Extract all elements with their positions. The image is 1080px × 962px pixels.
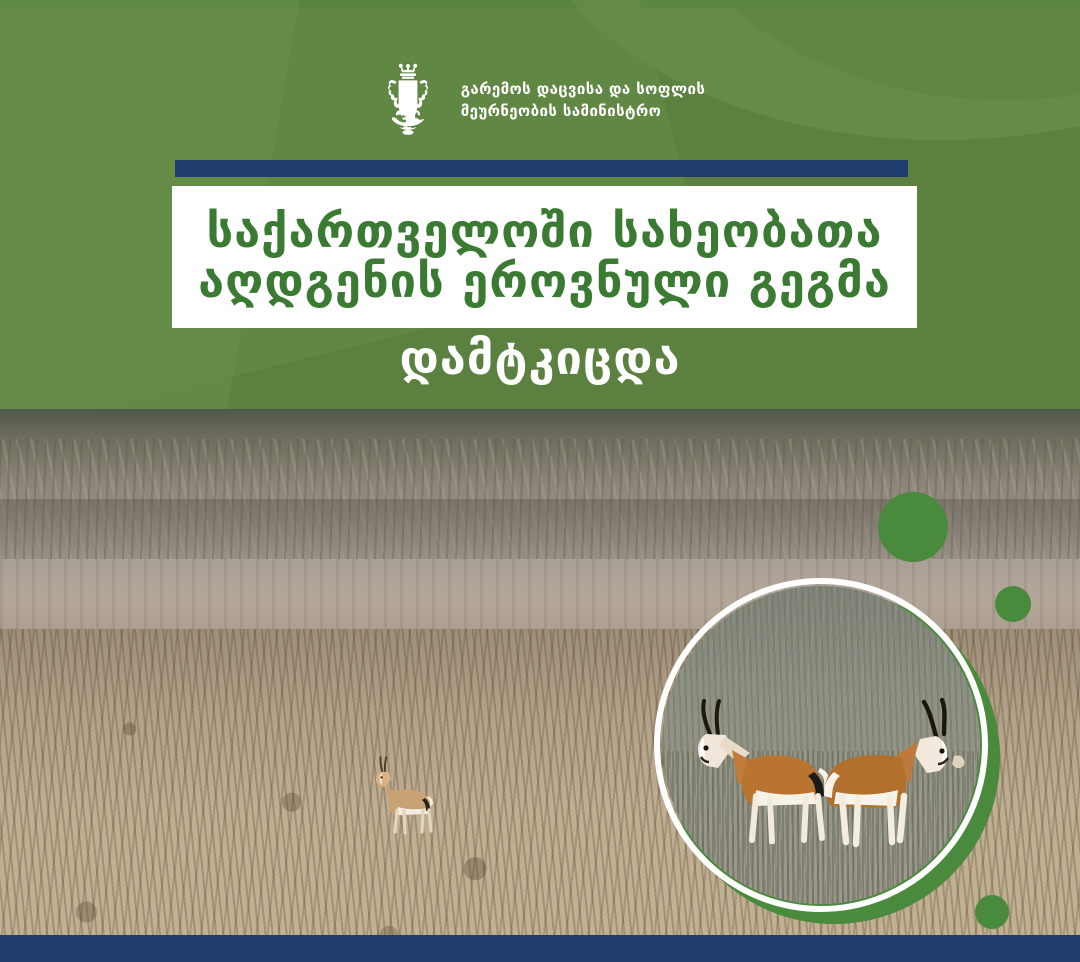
green-circle-large — [878, 492, 948, 562]
poster-root: გარემოს დაცვისა და სოფლის მეურნეობის სამ… — [0, 0, 1080, 962]
navy-footer-bar — [0, 935, 1080, 962]
brand-lockup: გარემოს დაცვისა და სოფლის მეურნეობის სამ… — [0, 62, 1080, 138]
title-banner: საქართველოში სახეობათა აღდგენის ეროვნული… — [172, 186, 917, 328]
inset-photo-circle — [654, 578, 1000, 924]
title-line-2: აღდგენის ეროვნული გეგმა — [198, 258, 891, 306]
navy-accent-bar — [175, 160, 908, 177]
title-line-1: საქართველოში სახეობათა — [206, 208, 882, 256]
title-line-3: დამტკიცდა — [0, 335, 1080, 382]
green-circle-small — [995, 586, 1031, 622]
inset-white-ring — [654, 578, 988, 912]
georgian-coat-of-arms-icon — [375, 62, 441, 138]
ministry-name: გარემოს დაცვისა და სოფლის მეურნეობის სამ… — [461, 78, 706, 123]
